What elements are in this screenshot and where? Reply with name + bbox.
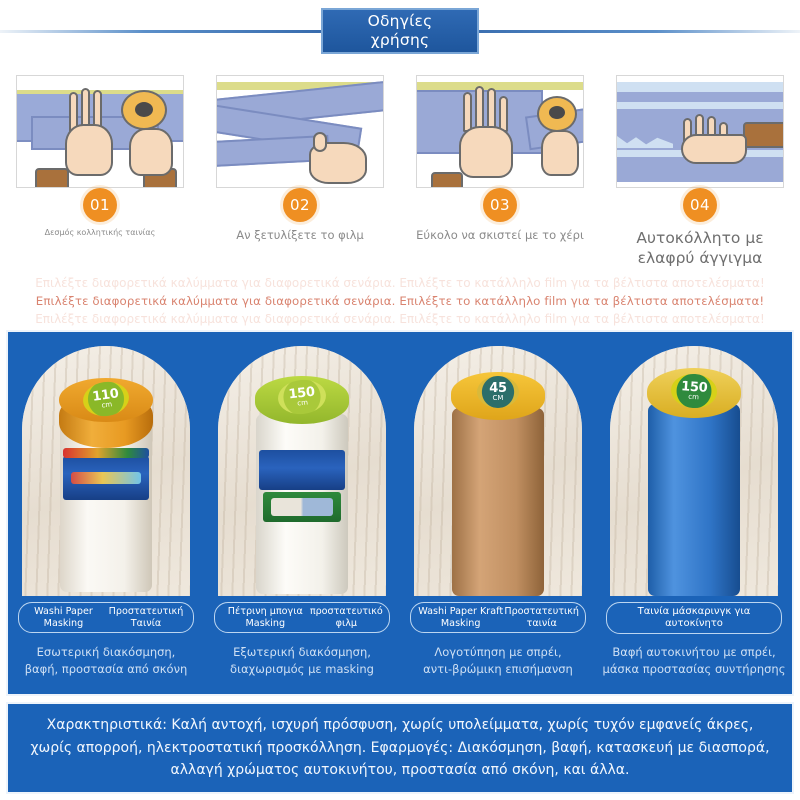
product-title-en-3: Washi Paper Kraft Masking xyxy=(417,606,504,629)
step-caption-01: Δεσμός κολλητικής ταινίας xyxy=(6,228,194,238)
product-photo-1: 110 cm xyxy=(22,346,190,596)
product-title-pill-4: Ταινία μάσκαρινγκ για αυτοκίνητο xyxy=(606,602,782,634)
usage-steps-row: 01 Δεσμός κολλητικής ταινίας 02 Αν ξετυλ… xyxy=(0,68,800,268)
features-panel: Χαρακτηριστικά: Καλή αντοχή, ισχυρή πρόσ… xyxy=(6,702,794,794)
product-title-gr-3: Προστατευτική ταινία xyxy=(504,606,579,629)
page-title-box: Οδηγίεςχρήσης xyxy=(321,8,479,54)
product-title-pill-3: Washi Paper Kraft Masking Προστατευτική … xyxy=(410,602,586,633)
hand-touching-film-icon xyxy=(617,76,783,187)
product-usage-4: Βαφή αυτοκινήτου με σπρέι, μάσκα προστασ… xyxy=(596,644,792,677)
page-header: Οδηγίεςχρήσης xyxy=(0,0,800,62)
features-text: Χαρακτηριστικά: Καλή αντοχή, ισχυρή πρόσ… xyxy=(8,714,792,782)
usage-step-04: 04 Αυτοκόλλητο με ελαφρύ άγγιγμα xyxy=(600,68,800,268)
product-usage-2: Εξωτερική διακόσμηση, διαχωρισμός με mas… xyxy=(204,644,400,677)
notice-strip: Επιλέξτε διαφορετικά καλύμματα για διαφο… xyxy=(0,272,800,330)
step-caption-04-line2: ελαφρύ άγγιγμα xyxy=(638,249,763,267)
step-caption-02: Αν ξετυλίξετε το φιλμ xyxy=(206,228,394,243)
step-illustration-02 xyxy=(216,75,384,188)
page-title-line2: χρήσης xyxy=(371,31,430,49)
product-photo-2: 150 cm xyxy=(218,346,386,596)
step-number-badge-03: 03 xyxy=(483,188,517,222)
product-infographic-page: Οδηγίεςχρήσης 0 xyxy=(0,0,800,800)
page-title-line1: Οδηγίες xyxy=(368,12,433,30)
hand-unrolling-film-icon xyxy=(217,76,383,187)
product-title-pill-1: Washi Paper Masking Προστατευτική Ταινία xyxy=(18,602,194,633)
step-caption-03: Εύκολο να σκιστεί με το χέρι xyxy=(406,228,594,243)
product-title-en-2: Πέτρινη μπογια Masking xyxy=(221,606,310,629)
product-title-en-1: Washi Paper Masking xyxy=(25,606,102,629)
notice-ghost-bottom: Επιλέξτε διαφορετικά καλύμματα για διαφο… xyxy=(0,312,800,326)
products-panel: 110 cm Washi Paper Masking Προστατευτική… xyxy=(6,330,794,696)
step-number-badge-02: 02 xyxy=(283,188,317,222)
step-illustration-03 xyxy=(416,75,584,188)
usage-step-03: 03 Εύκολο να σκιστεί με το χέρι xyxy=(400,68,600,268)
product-title-pill-2: Πέτρινη μπογια Masking προστατευτικό φιλ… xyxy=(214,602,390,633)
product-photo-4: 150 cm xyxy=(610,346,778,596)
product-usage-1: Εσωτερική διακόσμηση, βαφή, προστασία απ… xyxy=(8,644,204,677)
usage-step-02: 02 Αν ξετυλίξετε το φιλμ xyxy=(200,68,400,268)
usage-step-01: 01 Δεσμός κολλητικής ταινίας xyxy=(0,68,200,268)
page-title: Οδηγίεςχρήσης xyxy=(368,12,433,50)
hand-pressing-tape-roll-icon xyxy=(17,76,183,187)
notice-text: Επιλέξτε διαφορετικά καλύμματα για διαφο… xyxy=(36,294,764,308)
product-size-badge-3: 45 xyxy=(489,383,507,395)
product-usage-3: Λογοτύπηση με σπρέι, αντι-βρώμικη επισήμ… xyxy=(400,644,596,677)
hand-tearing-film-icon xyxy=(417,76,583,187)
step-number-badge-01: 01 xyxy=(83,188,117,222)
step-illustration-01 xyxy=(16,75,184,188)
step-caption-04: Αυτοκόλλητο με ελαφρύ άγγιγμα xyxy=(606,228,794,268)
product-photo-3: 45 CM xyxy=(414,346,582,596)
product-title-gr-2: προστατευτικό φιλμ xyxy=(310,606,383,629)
notice-ghost-top: Επιλέξτε διαφορετικά καλύμματα για διαφο… xyxy=(0,276,800,290)
step-caption-04-line1: Αυτοκόλλητο με xyxy=(636,229,763,247)
product-title-gr-1: Προστατευτική Ταινία xyxy=(105,606,187,629)
step-illustration-04 xyxy=(616,75,784,188)
step-number-badge-04: 04 xyxy=(683,188,717,222)
product-title-gr-4: Ταινία μάσκαρινγκ για αυτοκίνητο xyxy=(613,606,775,630)
